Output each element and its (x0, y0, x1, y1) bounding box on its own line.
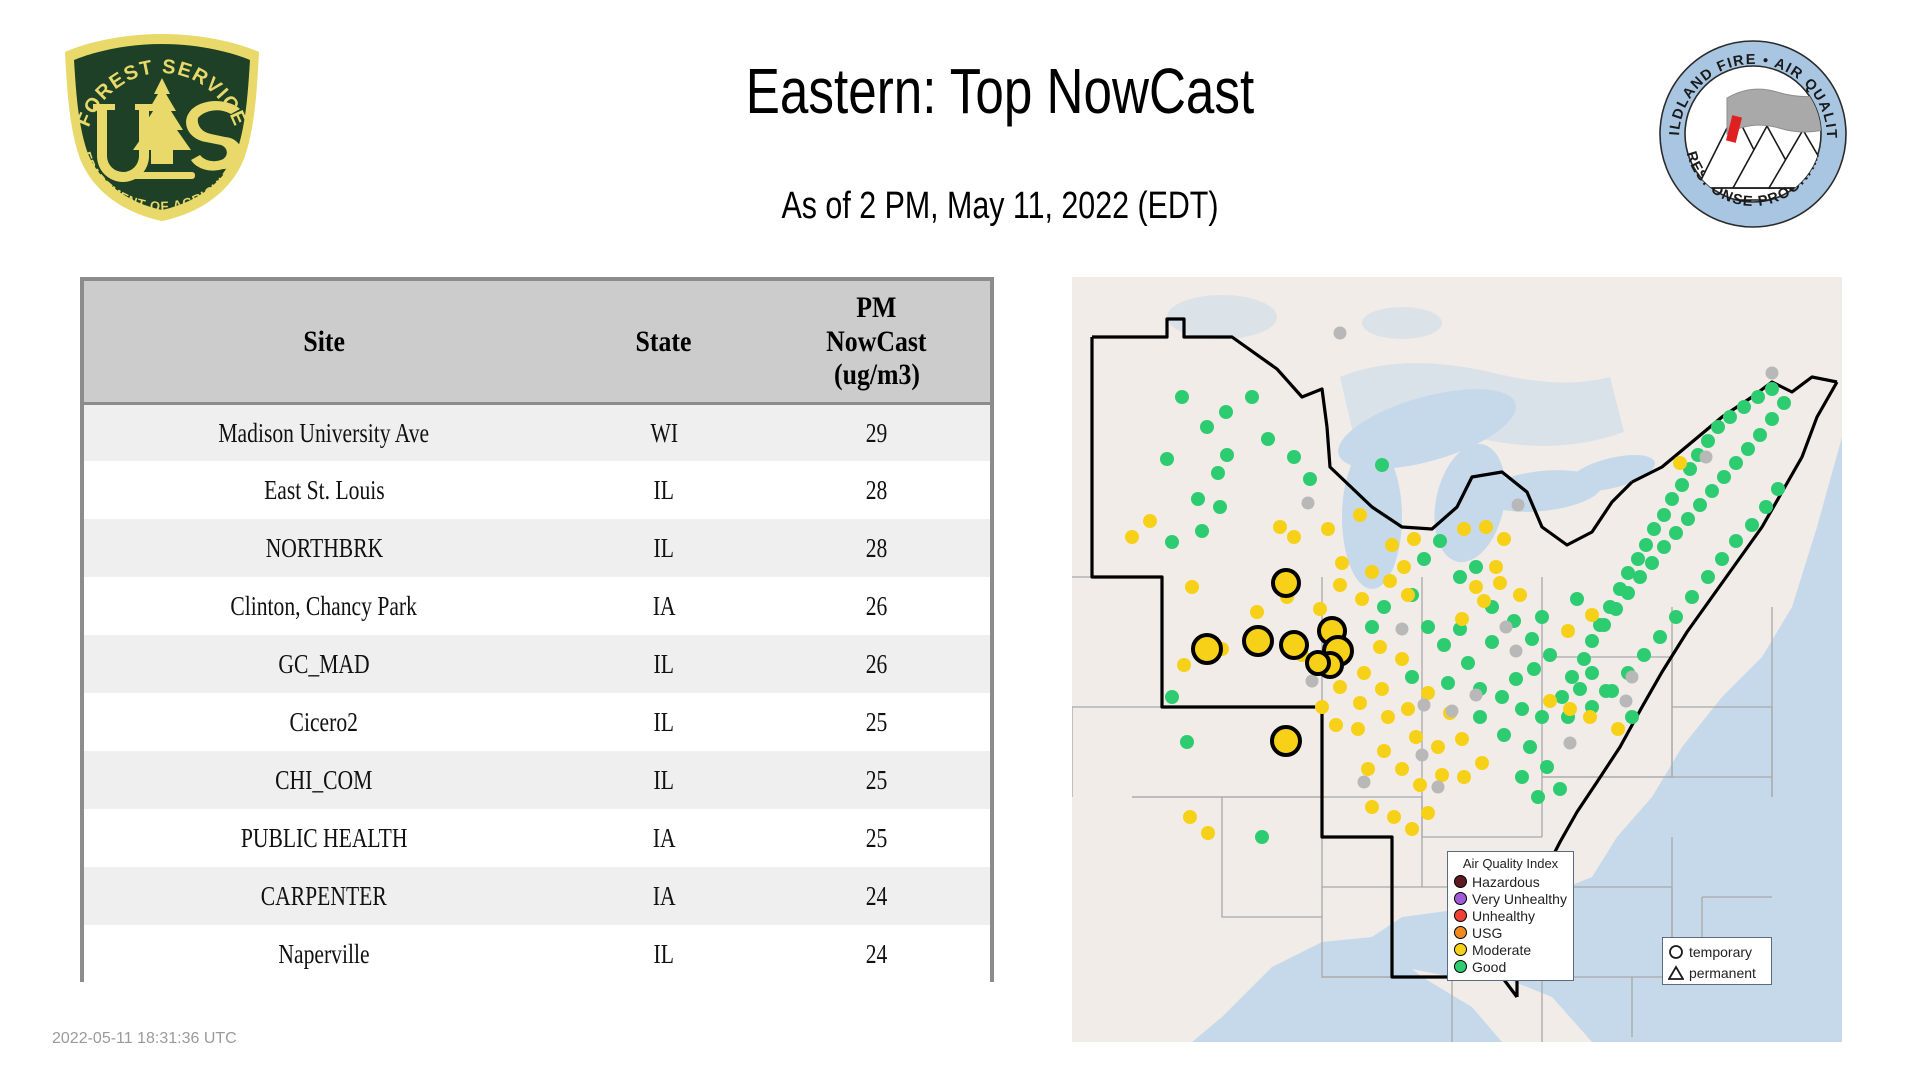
wfaqrp-logo: WILDLAND FIRE • AIR QUALITY RESPONSE PRO… (1657, 38, 1849, 230)
aqi-legend-title: Air Quality Index (1454, 856, 1567, 871)
top-nowcast-table: Site State PM NowCast (ug/m3) Madison Un… (80, 277, 994, 982)
legend-item-temporary: temporary (1668, 941, 1766, 962)
table-row: PUBLIC HEALTH IA 25 (84, 809, 990, 867)
cell-site: CHI_COM (84, 751, 564, 809)
aqi-dot-hazardous (1454, 875, 1467, 888)
table-row: GC_MAD IL 26 (84, 635, 990, 693)
cell-site: GC_MAD (84, 635, 564, 693)
legend-item-permanent: permanent (1668, 962, 1766, 983)
cell-state: IA (564, 867, 763, 925)
cell-state: IL (564, 461, 763, 519)
forest-service-logo: FOREST SERVICE DEPARTMENT OF AGRICULTURE (55, 30, 270, 225)
cell-value: 24 (763, 867, 990, 925)
aqi-legend: Air Quality Index Hazardous Very Unhealt… (1447, 851, 1574, 981)
cell-state: IA (564, 809, 763, 867)
page-title: Eastern: Top NowCast (488, 58, 1512, 125)
cell-value: 28 (763, 519, 990, 577)
table-row: CARPENTER IA 24 (84, 867, 990, 925)
cell-site: NORTHBRK (84, 519, 564, 577)
cell-state: IL (564, 751, 763, 809)
cell-value: 29 (763, 403, 990, 461)
aqi-dot-moderate (1454, 943, 1467, 956)
cell-state: WI (564, 403, 763, 461)
cell-site: Madison University Ave (84, 403, 564, 461)
aqi-legend-item-unhealthy: Unhealthy (1454, 907, 1567, 924)
aqi-legend-item-usg: USG (1454, 924, 1567, 941)
aqi-dot-very-unhealthy (1454, 892, 1467, 905)
cell-site: Naperville (84, 925, 564, 983)
cell-site: CARPENTER (84, 867, 564, 925)
aqi-legend-item-moderate: Moderate (1454, 941, 1567, 958)
aqi-dot-usg (1454, 926, 1467, 939)
cell-site: PUBLIC HEALTH (84, 809, 564, 867)
triangle-icon (1668, 965, 1684, 981)
cell-site: Clinton, Chancy Park (84, 577, 564, 635)
table-row: East St. Louis IL 28 (84, 461, 990, 519)
table-row: Cicero2 IL 25 (84, 693, 990, 751)
cell-value: 25 (763, 809, 990, 867)
aqi-legend-item-good: Good (1454, 958, 1567, 975)
generation-timestamp: 2022-05-11 18:31:36 UTC (52, 1030, 237, 1048)
aqi-legend-item-hazardous: Hazardous (1454, 873, 1567, 890)
cell-value: 25 (763, 751, 990, 809)
column-header-state: State (564, 281, 763, 403)
cell-state: IL (564, 519, 763, 577)
circle-icon (1668, 944, 1684, 960)
monitor-type-legend: temporary permanent (1662, 937, 1772, 985)
cell-state: IL (564, 925, 763, 983)
page-subtitle: As of 2 PM, May 11, 2022 (EDT) (488, 185, 1512, 228)
slide-root: FOREST SERVICE DEPARTMENT OF AGRICULTURE… (0, 0, 1920, 1080)
aqi-legend-item-very-unhealthy: Very Unhealthy (1454, 890, 1567, 907)
cell-state: IL (564, 693, 763, 751)
aqi-dot-unhealthy (1454, 909, 1467, 922)
cell-value: 28 (763, 461, 990, 519)
cell-value: 26 (763, 577, 990, 635)
aqi-dot-good (1454, 960, 1467, 973)
cell-state: IA (564, 577, 763, 635)
table-row: NORTHBRK IL 28 (84, 519, 990, 577)
table-header-row: Site State PM NowCast (ug/m3) (84, 281, 990, 403)
cell-value: 26 (763, 635, 990, 693)
cell-site: East St. Louis (84, 461, 564, 519)
table-row: Madison University Ave WI 29 (84, 403, 990, 461)
cell-value: 25 (763, 693, 990, 751)
table-row: Clinton, Chancy Park IA 26 (84, 577, 990, 635)
table-row: CHI_COM IL 25 (84, 751, 990, 809)
cell-site: Cicero2 (84, 693, 564, 751)
cell-value: 24 (763, 925, 990, 983)
table-row: Naperville IL 24 (84, 925, 990, 983)
column-header-site: Site (84, 281, 564, 403)
cell-state: IL (564, 635, 763, 693)
column-header-pm-nowcast: PM NowCast (ug/m3) (763, 281, 990, 403)
